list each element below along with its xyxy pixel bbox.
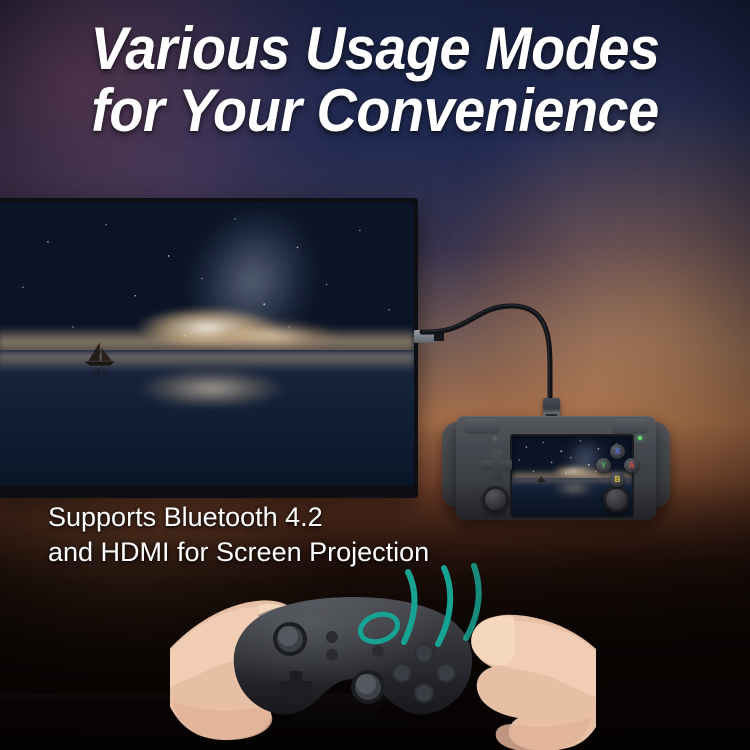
handheld-bumper-right[interactable]	[612, 418, 648, 434]
power-led-icon	[638, 436, 642, 440]
subtitle-line-2: and HDMI for Screen Projection	[48, 535, 568, 570]
headline-line-2: for Your Convenience	[26, 80, 724, 142]
tv-screen	[0, 202, 414, 486]
tv-device	[0, 198, 418, 498]
bluetooth-signal-icon	[352, 566, 482, 666]
button-a[interactable]: A	[624, 458, 639, 473]
tv-chassis	[0, 198, 418, 498]
button-x[interactable]: X	[610, 444, 625, 459]
headline: Various Usage Modes for Your Convenience	[26, 18, 724, 142]
handheld-nub-left	[492, 436, 499, 443]
artwork-cloud-2	[189, 318, 355, 352]
headline-line-1: Various Usage Modes	[91, 15, 660, 82]
handheld-bumper-left[interactable]	[464, 418, 500, 434]
button-y[interactable]: Y	[596, 458, 611, 473]
subtitle-line-1: Supports Bluetooth 4.2	[48, 500, 568, 535]
artwork-reflection	[135, 361, 326, 406]
subtitle: Supports Bluetooth 4.2 and HDMI for Scre…	[48, 500, 568, 569]
product-feature-image: Various Usage Modes for Your Convenience	[0, 0, 750, 750]
tv-screen-artwork	[0, 202, 414, 486]
dpad-icon[interactable]	[482, 450, 512, 480]
artwork-sailboat	[81, 341, 118, 381]
